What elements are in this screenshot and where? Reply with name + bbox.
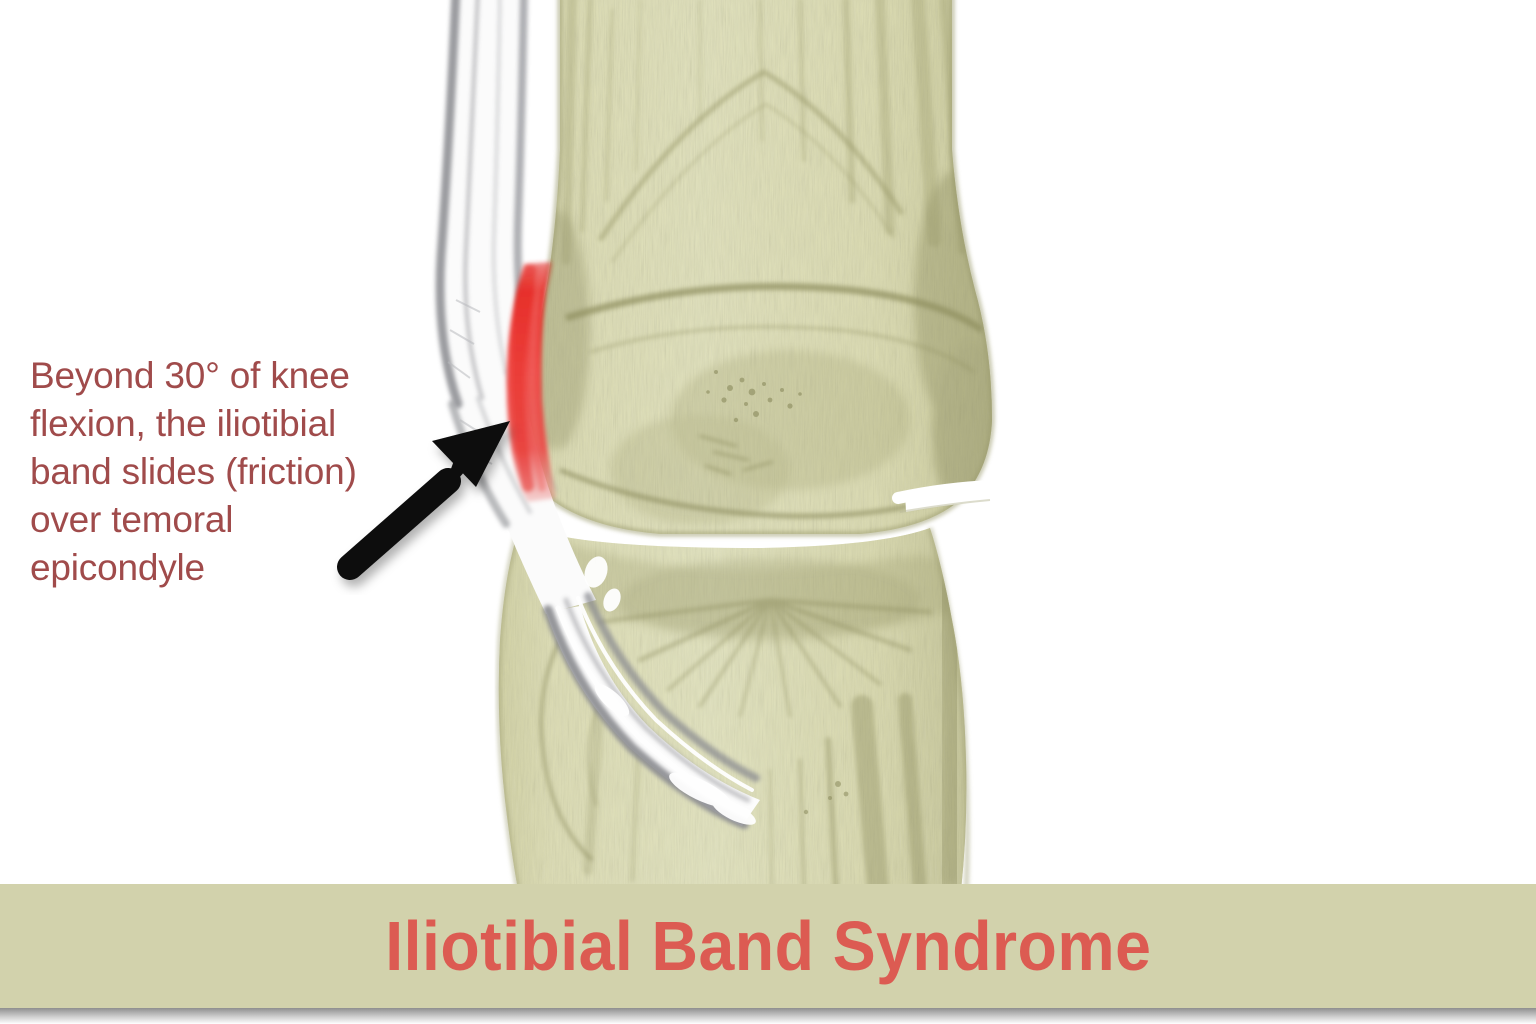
annotation-line-3: band slides (friction): [30, 448, 380, 496]
annotation-line-5: epicondyle: [30, 544, 380, 592]
title-banner: Iliotibial Band Syndrome: [0, 884, 1536, 1008]
annotation-line-4: over temoral: [30, 496, 380, 544]
page-title: Iliotibial Band Syndrome: [385, 906, 1151, 986]
annotation-line-1: Beyond 30° of knee: [30, 352, 380, 400]
annotation-line-2: flexion, the iliotibial: [30, 400, 380, 448]
annotation-text: Beyond 30° of knee flexion, the iliotibi…: [30, 352, 380, 592]
banner-drop-shadow: [0, 1008, 1536, 1024]
slide-canvas: Beyond 30° of knee flexion, the iliotibi…: [0, 0, 1536, 1024]
